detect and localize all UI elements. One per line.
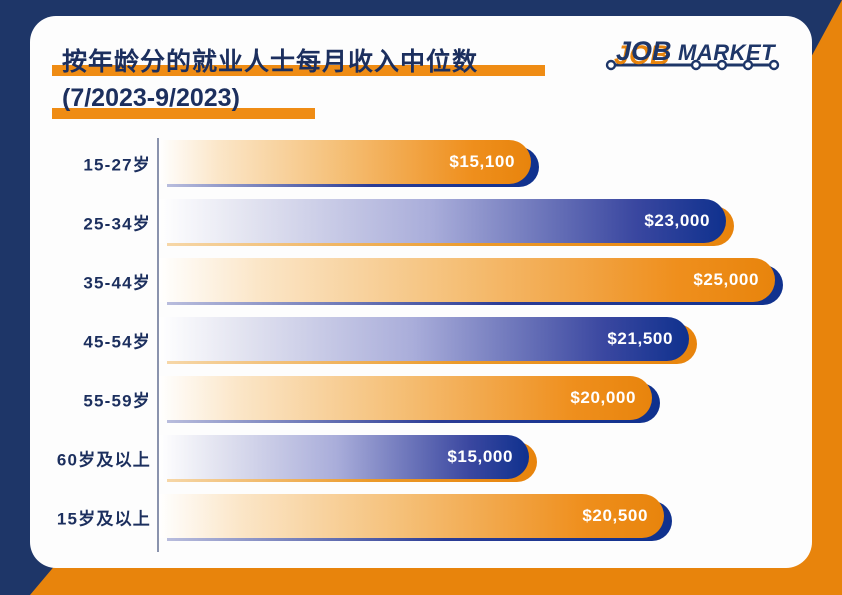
bar-value-label: $20,500 xyxy=(582,506,648,526)
bar[interactable]: $23,000 xyxy=(159,199,726,243)
content-card: 按年龄分的就业人士每月收入中位数 (7/2023-9/2023) xyxy=(30,16,812,568)
bar-group[interactable]: $20,500 xyxy=(159,494,678,540)
bar-value-label: $25,000 xyxy=(693,270,759,290)
bar-group[interactable]: $21,500 xyxy=(159,317,703,363)
category-label: 35-44岁 xyxy=(83,269,151,294)
bar-value-label: $23,000 xyxy=(644,211,710,231)
bar-value-label: $15,100 xyxy=(449,152,515,172)
category-label: 15-27岁 xyxy=(83,151,151,176)
chart-row: 55-59岁$20,000 xyxy=(30,372,812,426)
bar[interactable]: $15,100 xyxy=(159,140,531,184)
bar-value-label: $21,500 xyxy=(607,329,673,349)
page-title: 按年龄分的就业人士每月收入中位数 xyxy=(62,42,478,78)
logo-market-text: MARKET xyxy=(678,40,776,65)
chart-row: 35-44岁$25,000 xyxy=(30,254,812,308)
category-label: 15岁及以上 xyxy=(57,505,151,530)
page-subtitle: (7/2023-9/2023) xyxy=(62,84,240,113)
chart-row: 60岁及以上$15,000 xyxy=(30,431,812,485)
bar-group[interactable]: $23,000 xyxy=(159,199,740,245)
bar[interactable]: $15,000 xyxy=(159,435,529,479)
infographic-frame: 按年龄分的就业人士每月收入中位数 (7/2023-9/2023) xyxy=(0,0,842,595)
jobmarket-logo[interactable]: JOB JOB MARKET xyxy=(600,34,790,74)
bar-group[interactable]: $15,100 xyxy=(159,140,545,186)
logo-job-text: JOB xyxy=(616,36,672,66)
header: 按年龄分的就业人士每月收入中位数 (7/2023-9/2023) xyxy=(30,16,812,128)
chart-row: 15-27岁$15,100 xyxy=(30,136,812,190)
bar[interactable]: $20,500 xyxy=(159,494,664,538)
bar[interactable]: $25,000 xyxy=(159,258,775,302)
bar-group[interactable]: $15,000 xyxy=(159,435,543,481)
bar[interactable]: $20,000 xyxy=(159,376,652,420)
bar-value-label: $20,000 xyxy=(570,388,636,408)
bar-group[interactable]: $20,000 xyxy=(159,376,666,422)
chart-row: 15岁及以上$20,500 xyxy=(30,490,812,544)
chart-row: 45-54岁$21,500 xyxy=(30,313,812,367)
bar[interactable]: $21,500 xyxy=(159,317,689,361)
bar-group[interactable]: $25,000 xyxy=(159,258,789,304)
bar-chart: 15-27岁$15,10025-34岁$23,00035-44岁$25,0004… xyxy=(30,132,812,564)
category-label: 60岁及以上 xyxy=(57,446,151,471)
chart-row: 25-34岁$23,000 xyxy=(30,195,812,249)
bar-value-label: $15,000 xyxy=(447,447,513,467)
category-label: 45-54岁 xyxy=(83,328,151,353)
category-label: 55-59岁 xyxy=(83,387,151,412)
category-label: 25-34岁 xyxy=(83,210,151,235)
